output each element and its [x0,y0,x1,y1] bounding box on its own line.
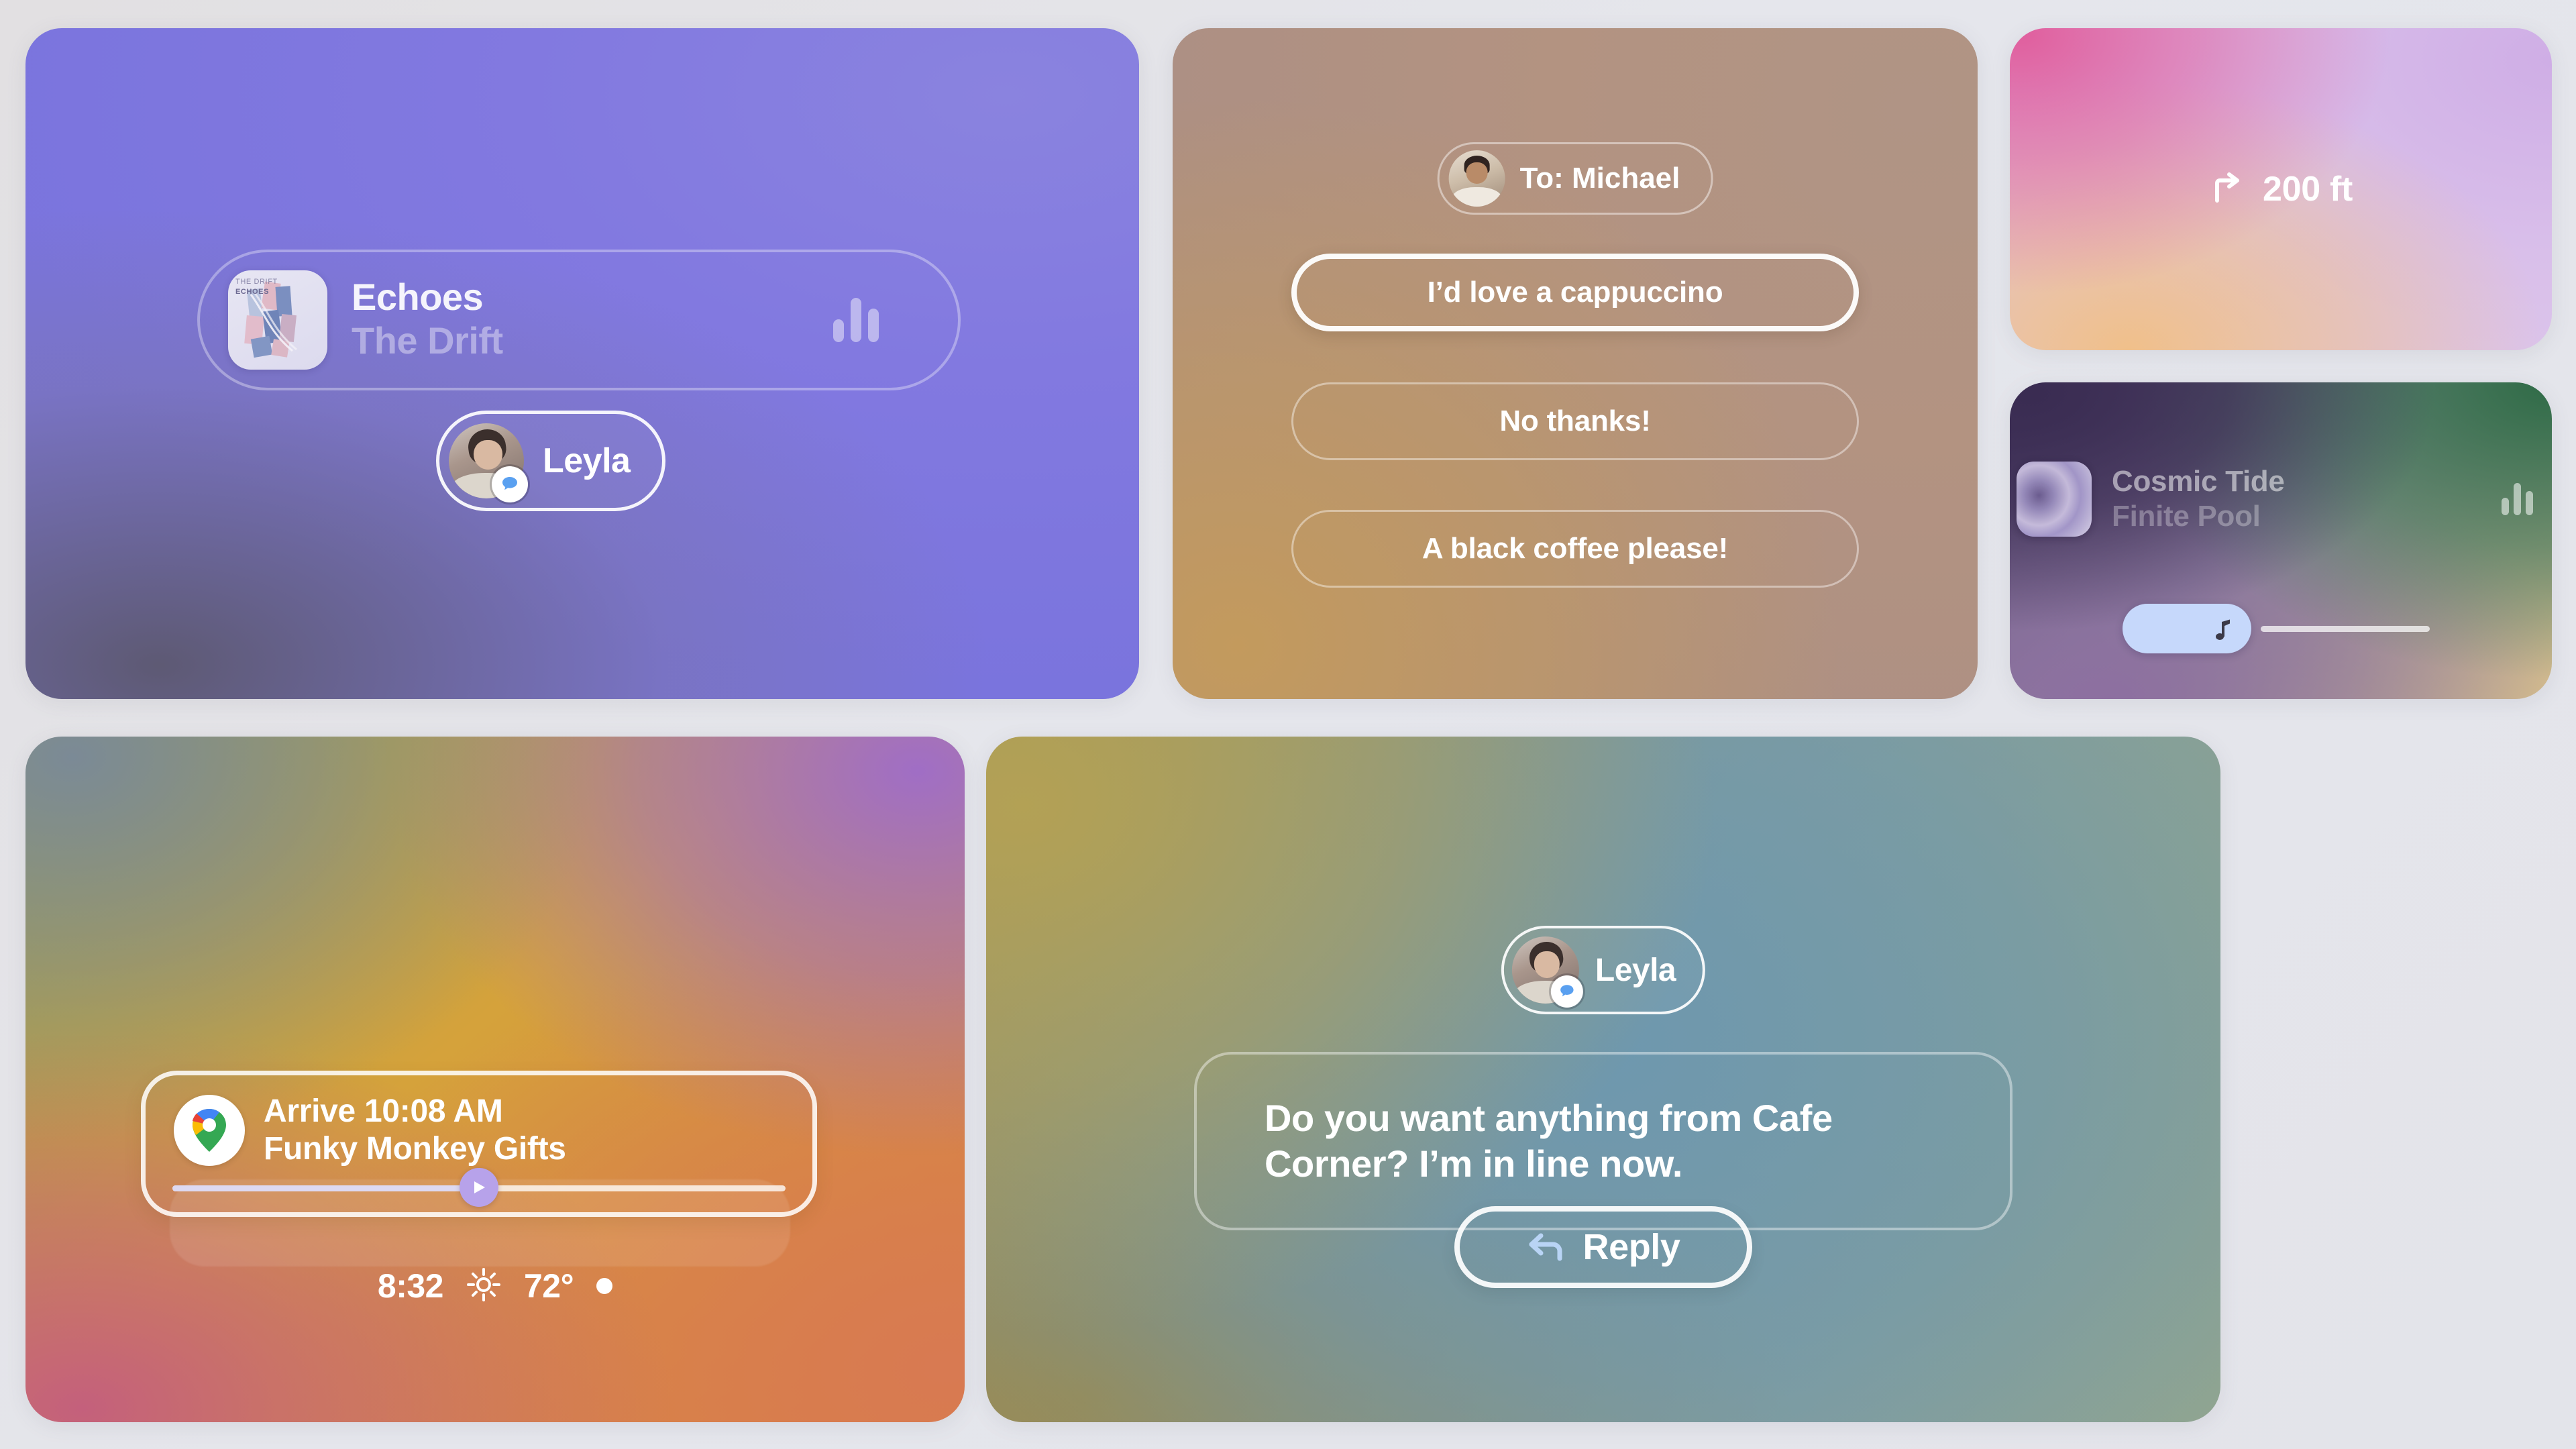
card-incoming-message[interactable]: Leyla Do you want anything from Cafe Cor… [986,737,2220,1422]
message-sender-name: Leyla [1595,952,1676,989]
track-artist-secondary: Finite Pool [2112,500,2285,533]
recipient-label: To: Michael [1520,162,1680,195]
maps-panel-inner: Arrive 10:08 AM Funky Monkey Gifts [174,1093,566,1167]
now-playing-text: Echoes The Drift [352,278,503,362]
sun-icon [466,1267,501,1305]
equalizer-icon [833,298,879,342]
maps-progress-slider[interactable] [172,1183,786,1193]
status-dot-icon [596,1278,612,1294]
turn-right-arrow-icon [2209,170,2245,209]
equalizer-icon [2502,483,2533,515]
reply-option-label: A black coffee please! [1422,532,1728,566]
google-maps-pin-icon [174,1095,245,1166]
card-now-playing-secondary[interactable]: Cosmic Tide Finite Pool [2010,382,2552,699]
reply-option-1[interactable]: No thanks! [1291,382,1859,460]
messages-chat-bubble-icon [492,466,528,502]
track-title: Echoes [352,278,503,317]
album-art-secondary [2017,462,2092,537]
card-suggested-replies[interactable]: To: Michael I’d love a cappuccino No tha… [1173,28,1978,699]
reply-option-0[interactable]: I’d love a cappuccino [1291,254,1859,331]
maps-text-block: Arrive 10:08 AM Funky Monkey Gifts [264,1093,566,1167]
reply-option-label: No thanks! [1499,405,1650,438]
scrubber[interactable] [2010,604,2552,653]
now-playing-pill[interactable]: THE DRIFT ECHOES Echoes The Drift [197,250,961,390]
album-art-line2: ECHOES [235,288,269,296]
messages-chat-bubble-icon [1551,975,1583,1008]
reply-button[interactable]: Reply [1454,1206,1752,1288]
maps-destination: Funky Monkey Gifts [264,1130,566,1168]
avatar [1512,936,1579,1004]
album-art: THE DRIFT ECHOES [228,270,327,370]
card-navigation-distance[interactable]: 200 ft [2010,28,2552,350]
scrubber-track[interactable] [2261,626,2430,632]
recipient-pill[interactable]: To: Michael [1438,142,1713,215]
now-playing-2-text: Cosmic Tide Finite Pool [2112,465,2285,533]
track-artist: The Drift [352,320,503,362]
avatar [449,423,524,498]
status-temperature: 72° [524,1267,574,1305]
maps-progress-fill [172,1185,479,1191]
status-time: 8:32 [378,1267,443,1305]
track-title-secondary: Cosmic Tide [2112,465,2285,498]
maps-eta: Arrive 10:08 AM [264,1093,566,1130]
navigation-distance: 200 ft [2263,169,2353,209]
album-art-label: THE DRIFT ECHOES [235,277,278,297]
now-playing-2-row: Cosmic Tide Finite Pool [2010,462,2552,537]
dashboard-root: THE DRIFT ECHOES Echoes The Drift [0,0,2576,1449]
reply-button-label: Reply [1582,1226,1680,1268]
status-row: 8:32 72° [25,1267,965,1305]
music-note-icon[interactable] [2123,604,2251,653]
reply-option-2[interactable]: A black coffee please! [1291,510,1859,588]
reply-arrow-icon [1526,1229,1565,1266]
navigation-row: 200 ft [2010,169,2552,209]
navigation-arrow-icon[interactable] [460,1168,498,1207]
message-text: Do you want anything from Cafe Corner? I… [1265,1095,1942,1187]
album-art-line1: THE DRIFT [235,277,278,287]
card-now-playing[interactable]: THE DRIFT ECHOES Echoes The Drift [25,28,1139,699]
message-bubble[interactable]: Do you want anything from Cafe Corner? I… [1194,1052,2012,1230]
reply-option-label: I’d love a cappuccino [1428,276,1723,309]
contact-chip-leyla[interactable]: Leyla [436,411,665,511]
card-maps-arrival[interactable]: Arrive 10:08 AM Funky Monkey Gifts 8:32 [25,737,965,1422]
message-sender-chip[interactable]: Leyla [1501,926,1705,1014]
contact-name: Leyla [543,441,630,481]
recipient-avatar [1449,150,1505,207]
maps-directions-panel[interactable]: Arrive 10:08 AM Funky Monkey Gifts [141,1071,817,1217]
